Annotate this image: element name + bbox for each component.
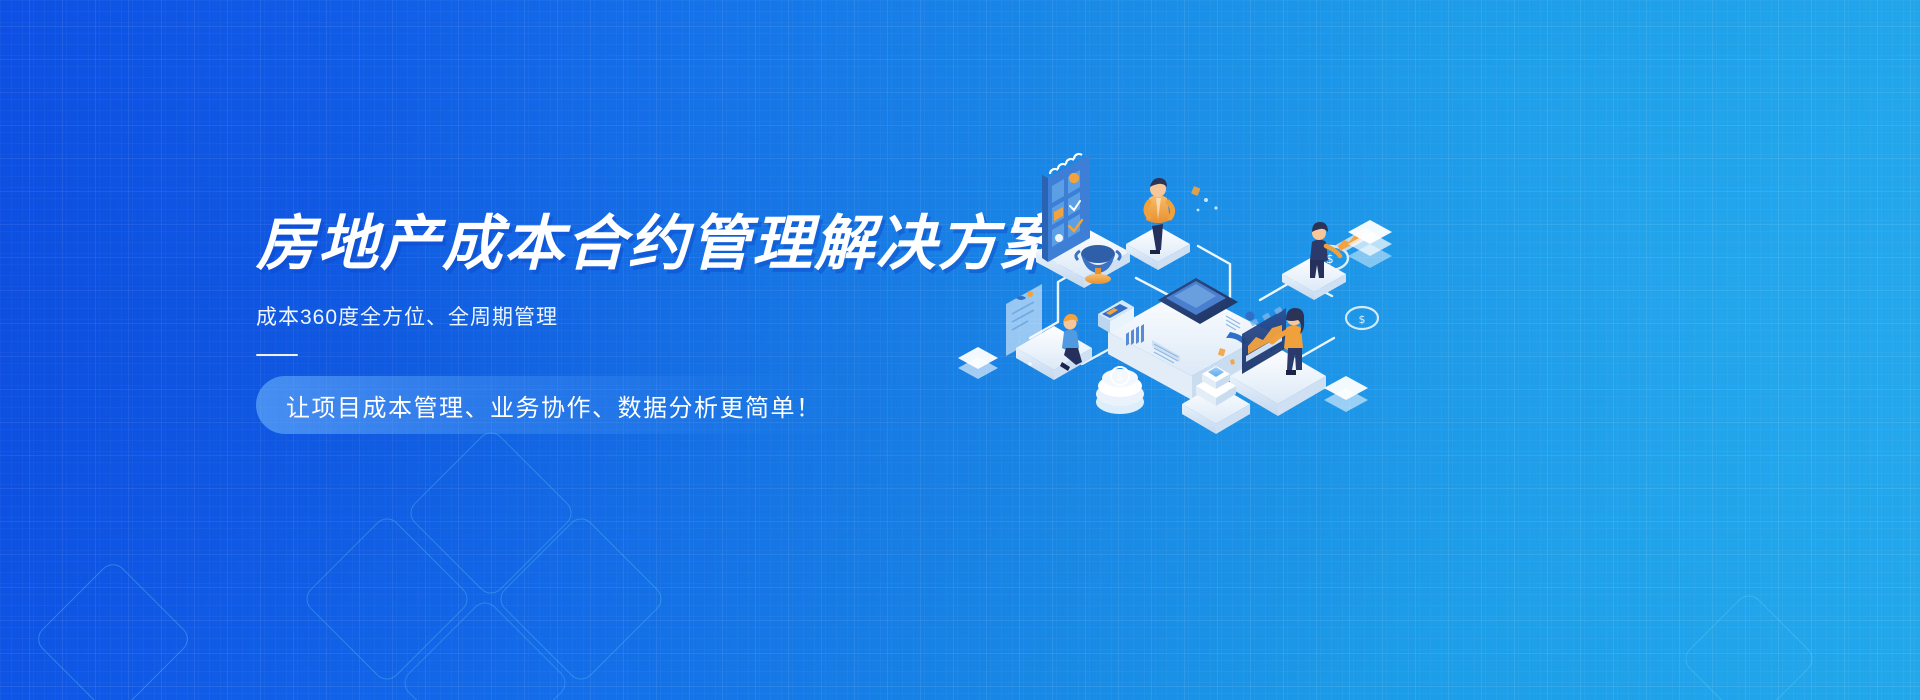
hero-banner: 房地产成本合约管理解决方案 成本360度全方位、全周期管理 让项目成本管理、业务… [0, 0, 1920, 700]
decorative-diamond-4 [495, 513, 668, 686]
dollar-coin-icon-2: $ [1346, 307, 1378, 329]
svg-text:$: $ [1117, 372, 1123, 383]
person-orange-jacket [1126, 178, 1190, 270]
hero-illustration: $ $ $ [930, 150, 1400, 440]
decorative-diamond-5 [399, 597, 572, 700]
coin-stack: $ [1096, 367, 1144, 414]
paper-sheets-2 [958, 347, 998, 379]
tagline-text: 让项目成本管理、业务协作、数据分析更简单！ [286, 388, 822, 423]
paper-sheets-3 [1324, 376, 1368, 412]
page-title: 房地产成本合约管理解决方案 [256, 212, 1036, 277]
title-divider [256, 354, 298, 356]
svg-text:$: $ [1359, 313, 1366, 326]
decorative-diamond-1 [32, 558, 193, 700]
paper-sheets [1348, 220, 1392, 268]
hero-text-block: 房地产成本合约管理解决方案 成本360度全方位、全周期管理 [256, 212, 1036, 356]
decorative-diamond-2 [405, 427, 578, 600]
page-subtitle: 成本360度全方位、全周期管理 [256, 303, 1036, 332]
decorative-diamond-3 [301, 513, 474, 686]
tagline-pill: 让项目成本管理、业务协作、数据分析更简单！ [256, 376, 856, 434]
decorative-diamond-6 [1680, 590, 1819, 700]
calendar-board [1036, 154, 1130, 288]
